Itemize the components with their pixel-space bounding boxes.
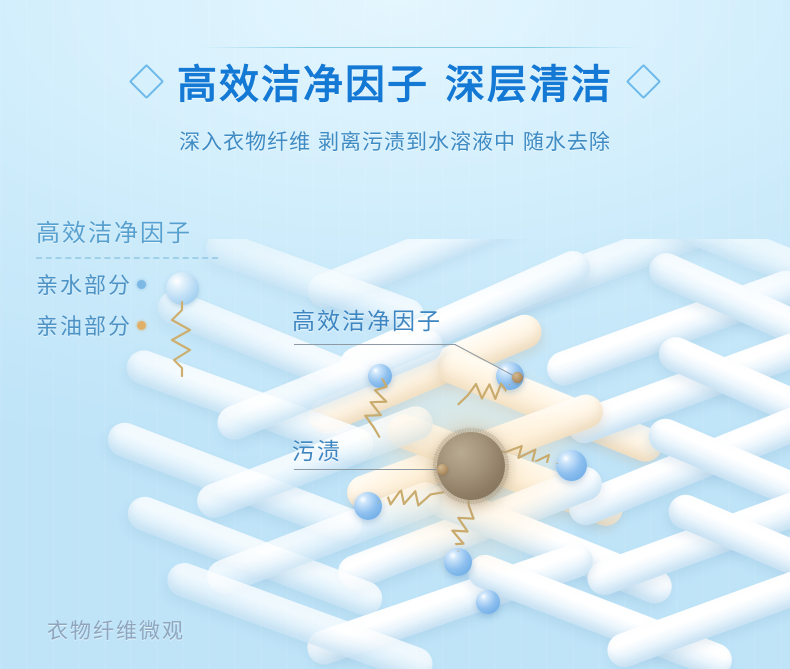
horizon-hairline xyxy=(200,47,640,48)
lipophilic-dot-icon xyxy=(137,321,146,330)
title-text: 高效洁净因子深层清洁 xyxy=(177,52,613,110)
title-part-2: 深层清洁 xyxy=(445,63,613,107)
molecule-head-icon xyxy=(354,492,382,520)
leader-endpoint-dot xyxy=(512,372,523,383)
legend-divider xyxy=(36,257,218,259)
legend-item-label: 亲水部分 xyxy=(36,268,132,300)
fabric-caption: 衣物纤维微观 xyxy=(47,615,185,645)
surfactant-molecule xyxy=(476,590,500,614)
promo-graphic: 高效洁净因子深层清洁 深入衣物纤维 剥离污渍到水溶液中 随水去除 高效洁净因子 … xyxy=(0,0,790,669)
leader-line-segment xyxy=(294,469,442,470)
legend-molecule-diagram xyxy=(160,272,206,377)
molecule-tail-icon xyxy=(160,272,206,377)
surfactant-molecule xyxy=(354,492,382,520)
hydrophilic-dot-icon xyxy=(137,280,146,289)
callout-label-cleaning-factor: 高效洁净因子 xyxy=(292,302,442,336)
diamond-right-icon xyxy=(626,63,661,98)
molecule-head-icon xyxy=(556,450,587,481)
page-title: 高效洁净因子深层清洁 xyxy=(0,52,790,110)
leader-endpoint-dot xyxy=(437,464,448,475)
header-block: 高效洁净因子深层清洁 深入衣物纤维 剥离污渍到水溶液中 随水去除 xyxy=(0,52,790,156)
molecule-head-icon xyxy=(476,590,500,614)
diamond-left-icon xyxy=(129,63,164,98)
callout-label-stain: 污渍 xyxy=(292,432,342,466)
surfactant-molecule xyxy=(556,450,587,481)
page-subtitle: 深入衣物纤维 剥离污渍到水溶液中 随水去除 xyxy=(0,126,790,156)
leader-line-segment xyxy=(294,344,456,345)
title-part-1: 高效洁净因子 xyxy=(177,63,429,107)
legend-item-label: 亲油部分 xyxy=(36,309,132,341)
legend-title: 高效洁净因子 xyxy=(36,213,218,248)
